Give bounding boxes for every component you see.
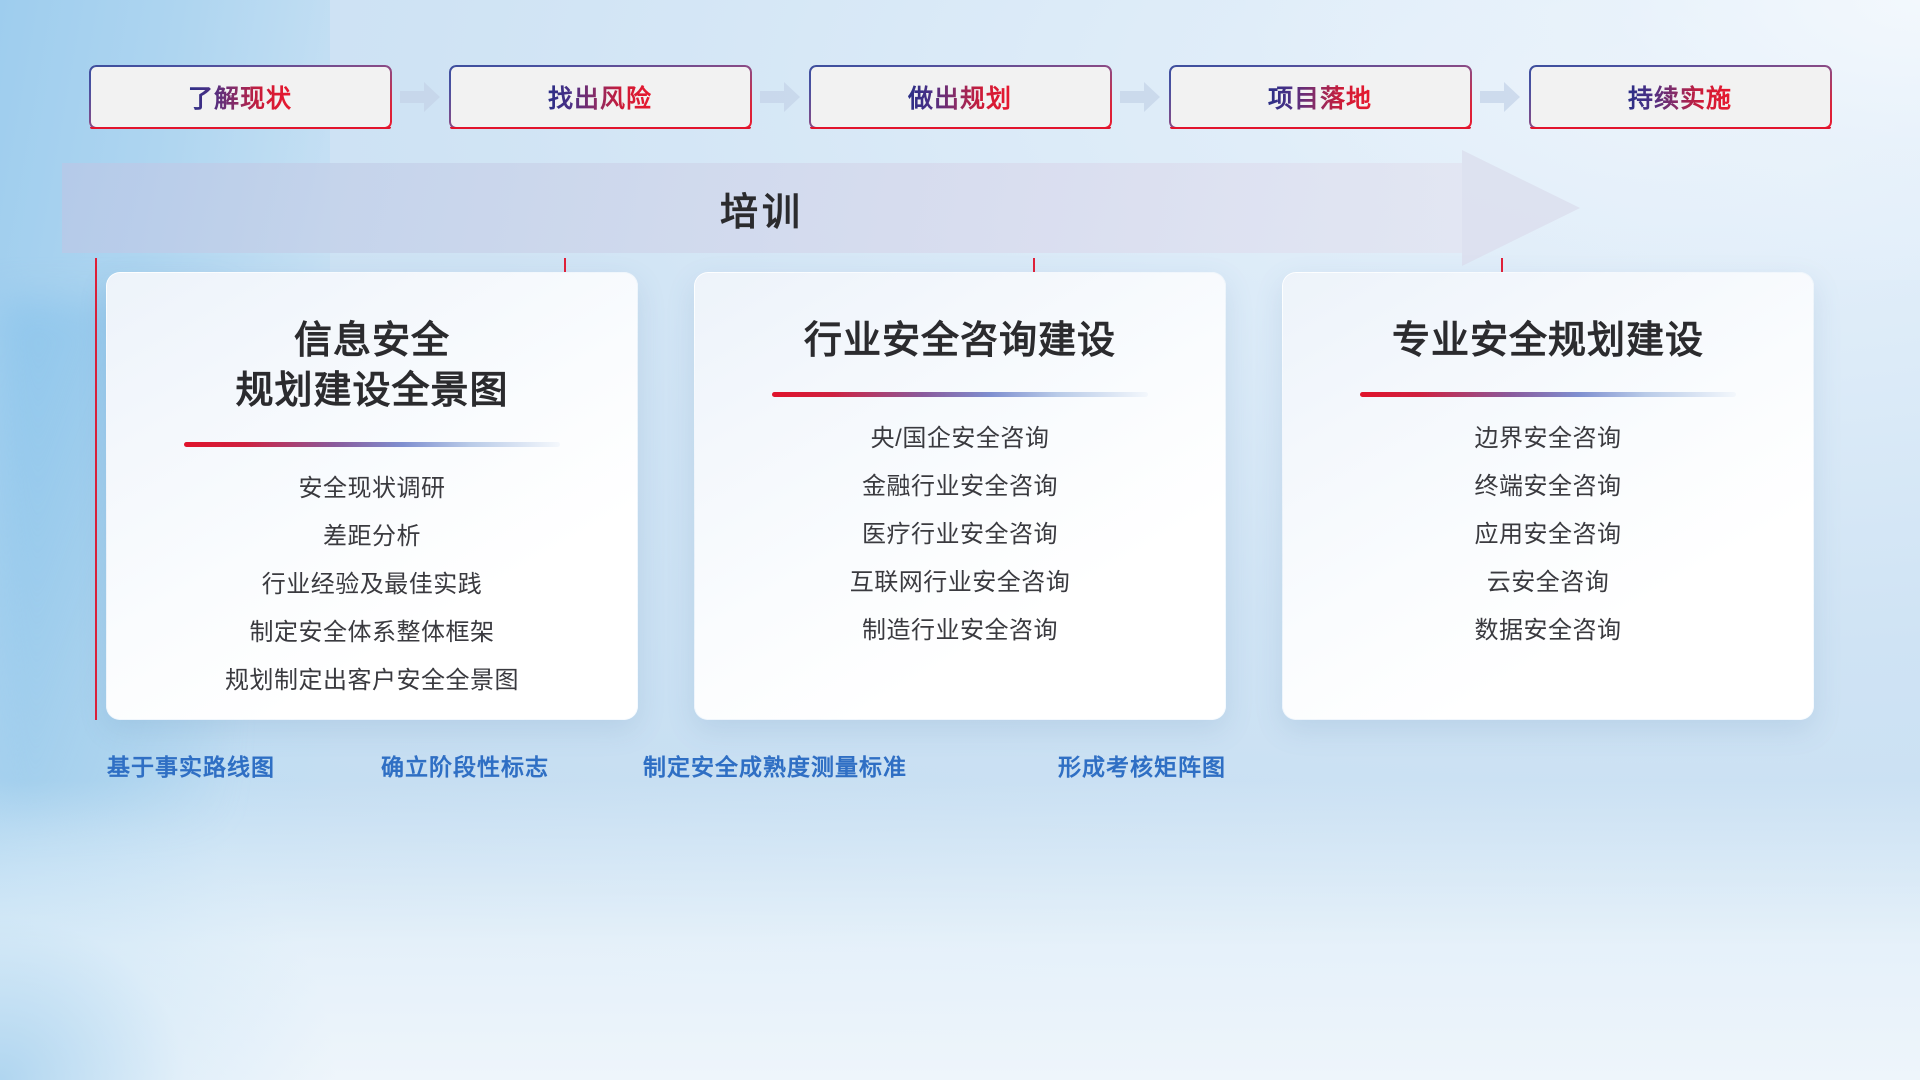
step-box-3[interactable]: 做出规划 [809, 65, 1112, 129]
background-bottomleft-glow [0, 750, 420, 1080]
list-item: 制定安全体系整体框架 [225, 621, 519, 645]
card-1[interactable]: 信息安全 规划建设全景图安全现状调研差距分析行业经验及最佳实践制定安全体系整体框… [106, 272, 638, 720]
arrow-right-icon [752, 65, 809, 129]
list-item: 医疗行业安全咨询 [850, 523, 1071, 547]
arrow-right-icon [1112, 65, 1169, 129]
list-item: 数据安全咨询 [1475, 619, 1622, 643]
footer-labels: 基于事实路线图确立阶段性标志制定安全成熟度测量标准形成考核矩阵图 [0, 748, 1920, 788]
card-list-1: 安全现状调研差距分析行业经验及最佳实践制定安全体系整体框架规划制定出客户安全全景… [225, 477, 519, 693]
list-item: 终端安全咨询 [1475, 475, 1622, 499]
step-label-3: 做出规划 [908, 79, 1012, 115]
step-box-1[interactable]: 了解现状 [89, 65, 392, 129]
list-item: 互联网行业安全咨询 [850, 571, 1071, 595]
arrow-right-icon [392, 65, 449, 129]
list-item: 安全现状调研 [225, 477, 519, 501]
training-banner-title: 培训 [62, 163, 1462, 253]
card-title-2: 行业安全咨询建设 [804, 316, 1116, 366]
list-item: 央/国企安全咨询 [850, 427, 1071, 451]
list-item: 差距分析 [225, 525, 519, 549]
list-item: 金融行业安全咨询 [850, 475, 1071, 499]
step-label-1: 了解现状 [188, 79, 292, 115]
arrow-right-icon [1472, 65, 1529, 129]
card-list-3: 边界安全咨询终端安全咨询应用安全咨询云安全咨询数据安全咨询 [1475, 427, 1622, 643]
step-box-4[interactable]: 项目落地 [1169, 65, 1472, 129]
list-item: 应用安全咨询 [1475, 523, 1622, 547]
footer-label-3: 制定安全成熟度测量标准 [643, 748, 907, 782]
list-item: 边界安全咨询 [1475, 427, 1622, 451]
card-divider-1 [184, 442, 560, 447]
cards-row: 信息安全 规划建设全景图安全现状调研差距分析行业经验及最佳实践制定安全体系整体框… [0, 272, 1920, 722]
footer-label-1: 基于事实路线图 [107, 748, 275, 782]
card-title-1: 信息安全 规划建设全景图 [235, 316, 508, 416]
footer-label-4: 形成考核矩阵图 [1058, 748, 1226, 782]
step-box-2[interactable]: 找出风险 [449, 65, 752, 129]
step-label-4: 项目落地 [1268, 79, 1372, 115]
card-divider-3 [1360, 392, 1736, 397]
step-label-5: 持续实施 [1628, 79, 1732, 115]
card-title-3: 专业安全规划建设 [1392, 316, 1704, 366]
card-list-2: 央/国企安全咨询金融行业安全咨询医疗行业安全咨询互联网行业安全咨询制造行业安全咨… [850, 427, 1071, 643]
banner-arrow-right-icon [1462, 150, 1580, 266]
footer-label-2: 确立阶段性标志 [381, 748, 549, 782]
card-divider-2 [772, 392, 1148, 397]
process-steps: 了解现状找出风险做出规划项目落地持续实施 [0, 62, 1920, 132]
card-2[interactable]: 行业安全咨询建设央/国企安全咨询金融行业安全咨询医疗行业安全咨询互联网行业安全咨… [694, 272, 1226, 720]
list-item: 制造行业安全咨询 [850, 619, 1071, 643]
step-box-5[interactable]: 持续实施 [1529, 65, 1832, 129]
list-item: 行业经验及最佳实践 [225, 573, 519, 597]
training-banner: 培训 [62, 163, 1520, 253]
step-label-2: 找出风险 [548, 79, 652, 115]
list-item: 云安全咨询 [1475, 571, 1622, 595]
list-item: 规划制定出客户安全全景图 [225, 669, 519, 693]
card-3[interactable]: 专业安全规划建设边界安全咨询终端安全咨询应用安全咨询云安全咨询数据安全咨询 [1282, 272, 1814, 720]
